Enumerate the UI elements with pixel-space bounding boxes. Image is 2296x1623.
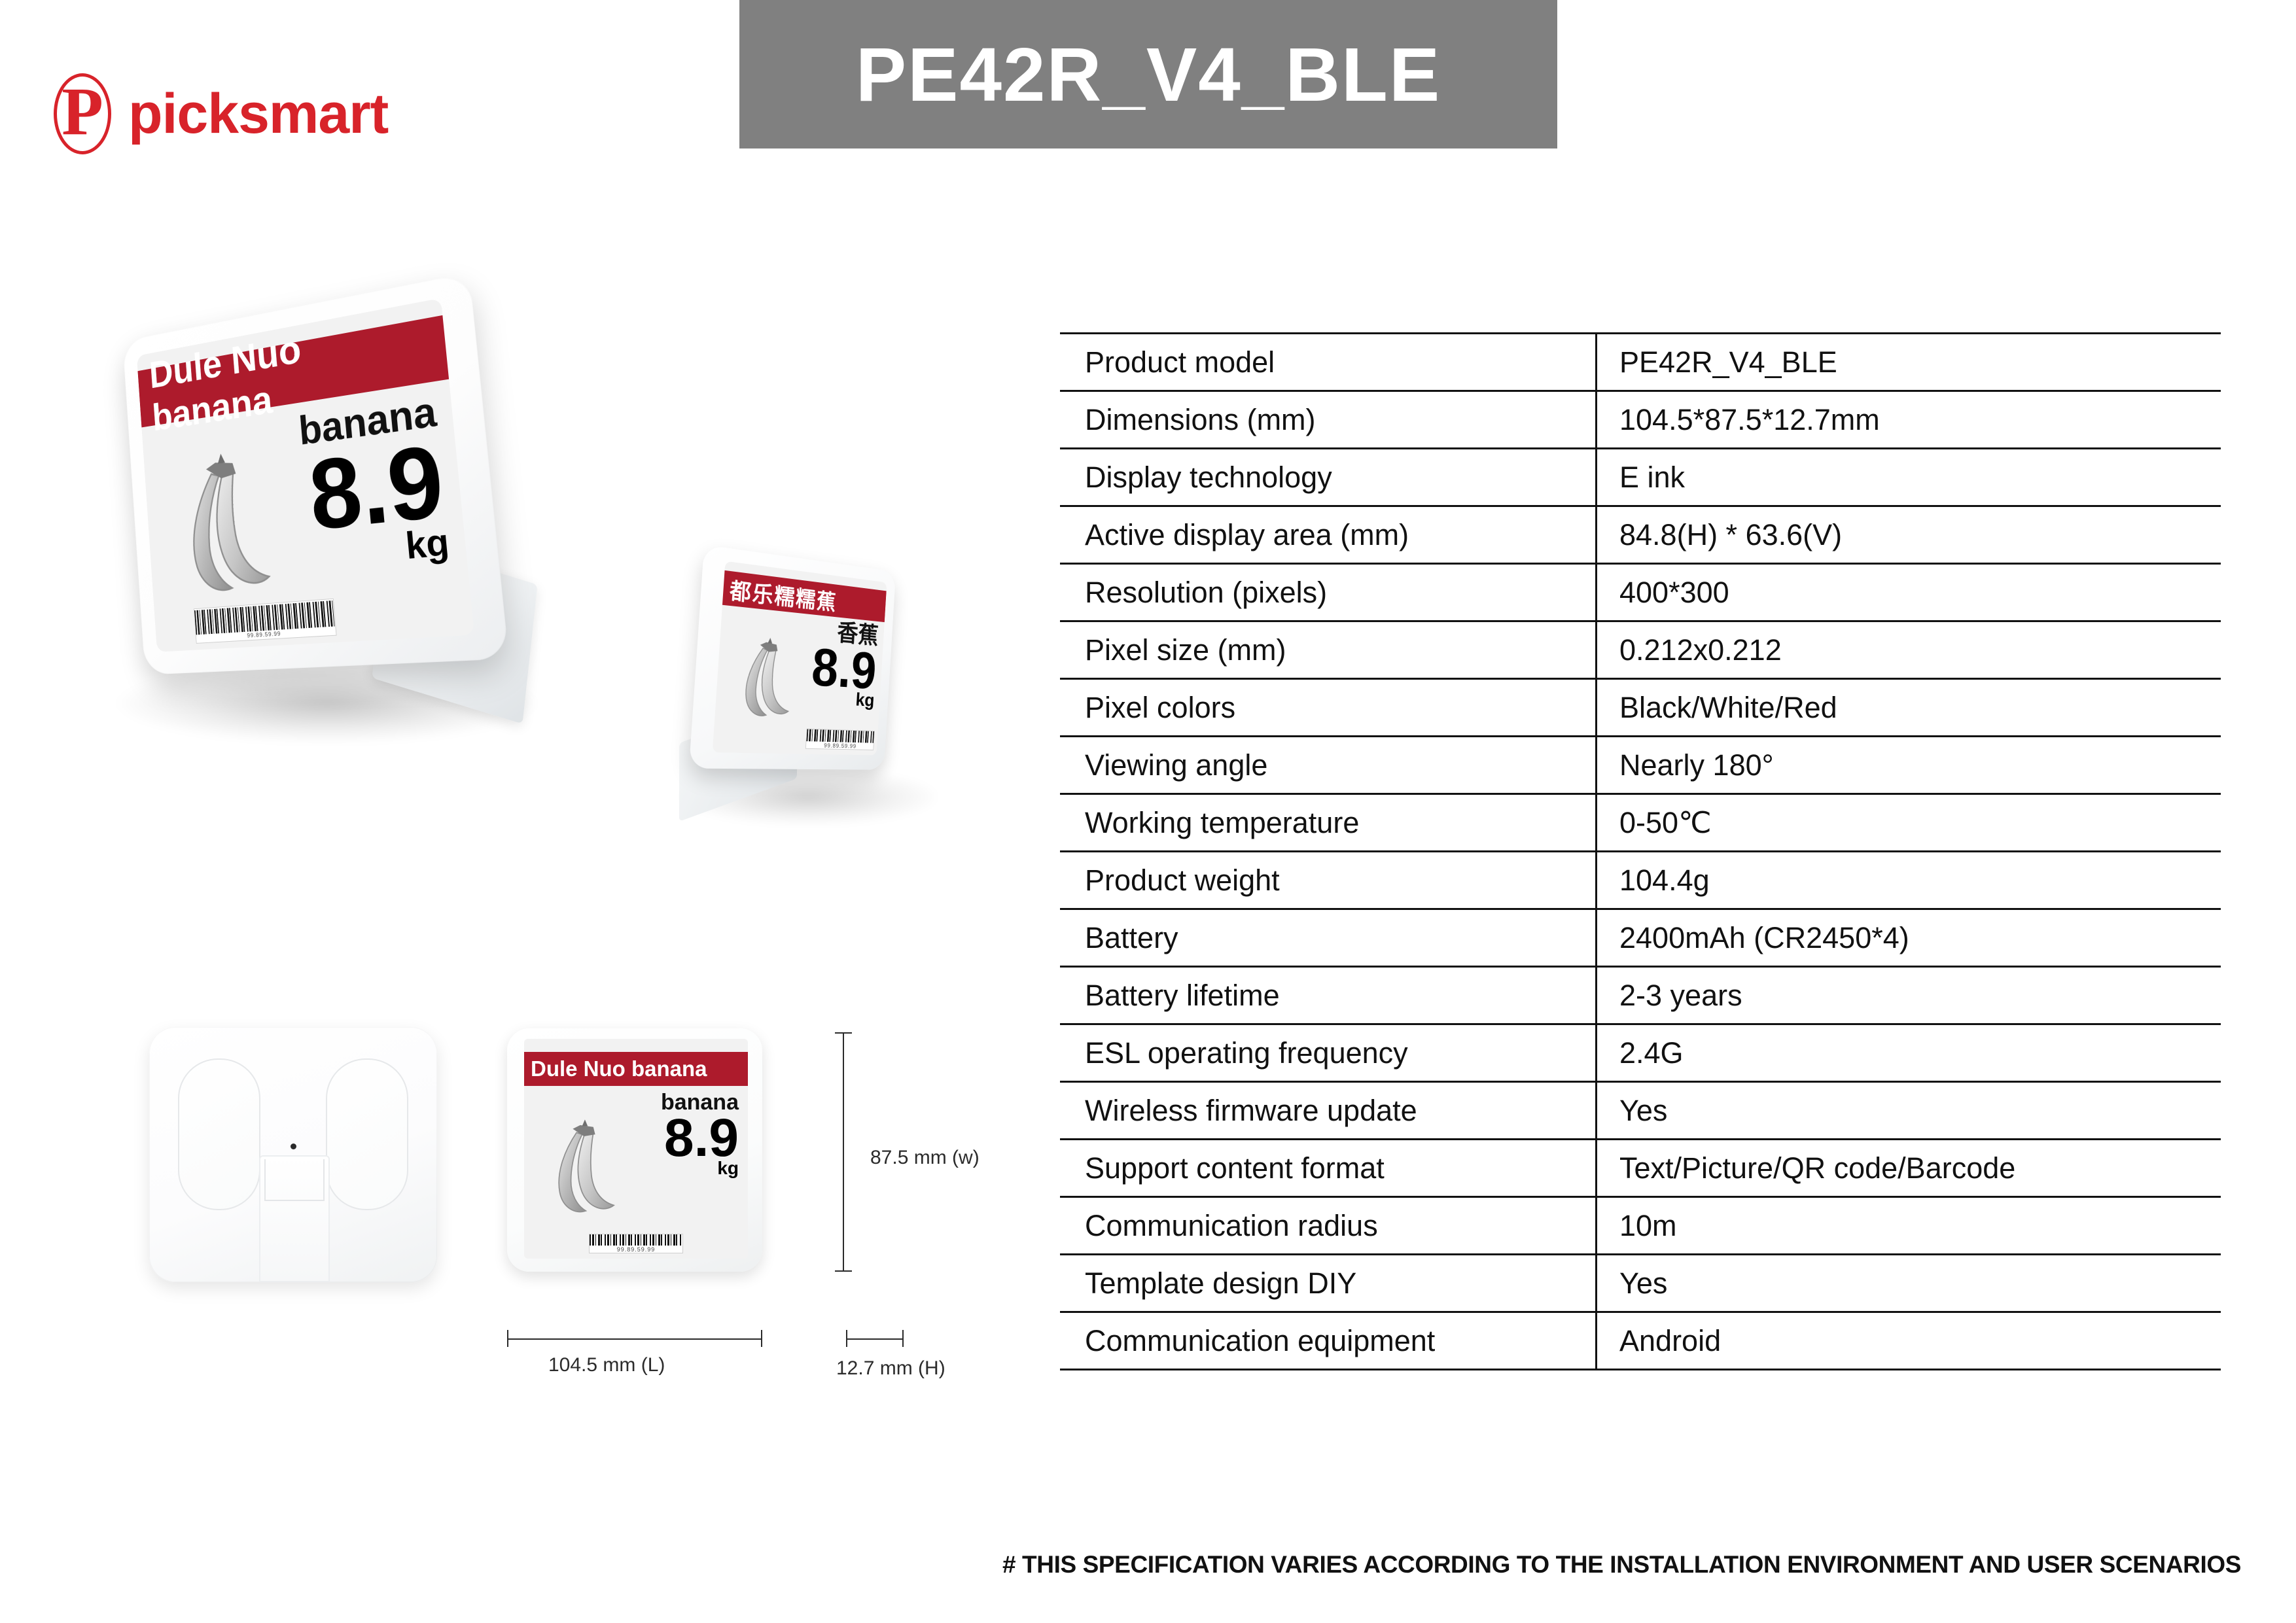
hero-product-photo: Dule Nuo banana xyxy=(98,298,556,769)
footer-disclaimer: # THIS SPECIFICATION VARIES ACCORDING TO… xyxy=(1002,1551,2241,1579)
esl-tag-hero: Dule Nuo banana xyxy=(122,272,509,674)
table-row: Communication radius10m xyxy=(1060,1197,2221,1255)
dim-cap-height-left xyxy=(846,1330,847,1347)
spec-value: Black/White/Red xyxy=(1597,679,2221,737)
table-row: Wireless firmware updateYes xyxy=(1060,1082,2221,1140)
dim-label-length: 104.5 mm (L) xyxy=(548,1354,665,1376)
spec-key: Wireless firmware update xyxy=(1060,1082,1597,1140)
esl-screen-hero: Dule Nuo banana xyxy=(137,298,474,652)
esl-tag-secondary: 都乐糯糯蕉 香蕉 8.9 kg 99.89. xyxy=(689,545,896,770)
device-front-view: Dule Nuo banana banana 8.9 kg 99.89.59.9… xyxy=(507,1028,762,1272)
battery-compartment-right xyxy=(326,1058,408,1210)
table-row: Product modelPE42R_V4_BLE xyxy=(1060,334,2221,391)
barcode-icon: 99.89.59.99 xyxy=(589,1234,683,1253)
dim-label-height: 12.7 mm (H) xyxy=(836,1357,945,1380)
spec-value: 84.8(H) * 63.6(V) xyxy=(1597,506,2221,564)
picksmart-logo-icon: P xyxy=(54,73,111,154)
spec-key: Battery lifetime xyxy=(1060,967,1597,1024)
spec-key: Dimensions (mm) xyxy=(1060,391,1597,449)
spec-value: Nearly 180° xyxy=(1597,737,2221,794)
barcode-digits: 99.89.59.99 xyxy=(617,1247,656,1253)
barcode-bars xyxy=(590,1234,682,1246)
banana-image xyxy=(713,605,815,754)
spec-value: 104.5*87.5*12.7mm xyxy=(1597,391,2221,449)
spec-value: PE42R_V4_BLE xyxy=(1597,334,2221,391)
spec-key: Product weight xyxy=(1060,852,1597,909)
esl-info: banana 8.9 kg xyxy=(640,1086,748,1259)
table-row: Battery2400mAh (CR2450*4) xyxy=(1060,909,2221,967)
spec-value: 2-3 years xyxy=(1597,967,2221,1024)
page-title: PE42R_V4_BLE xyxy=(856,37,1441,113)
esl-unit: kg xyxy=(855,691,875,710)
spec-key: Template design DIY xyxy=(1060,1255,1597,1312)
dim-line-height xyxy=(846,1338,904,1340)
dim-cap-height-right xyxy=(902,1330,904,1347)
dim-cap-width-top xyxy=(835,1032,852,1034)
dim-line-width xyxy=(843,1032,844,1272)
barcode-digits: 99.89.59.99 xyxy=(824,743,857,750)
spec-value: 2400mAh (CR2450*4) xyxy=(1597,909,2221,967)
esl-unit: kg xyxy=(404,523,450,565)
battery-compartment-left xyxy=(178,1058,260,1210)
table-row: Pixel size (mm)0.212x0.212 xyxy=(1060,621,2221,679)
esl-screen-secondary: 都乐糯糯蕉 香蕉 8.9 kg 99.89. xyxy=(713,561,887,756)
spec-value: Android xyxy=(1597,1312,2221,1370)
table-row: Battery lifetime2-3 years xyxy=(1060,967,2221,1024)
dim-cap-width-bottom xyxy=(835,1270,852,1272)
esl-price: 8.9 xyxy=(664,1115,739,1162)
barcode-bars xyxy=(806,729,874,743)
spec-value: 0-50℃ xyxy=(1597,794,2221,852)
spec-key: Resolution (pixels) xyxy=(1060,564,1597,621)
barcode-icon: 99.89.59.99 xyxy=(805,729,875,750)
table-row: ESL operating frequency2.4G xyxy=(1060,1024,2221,1082)
spec-value: Yes xyxy=(1597,1082,2221,1140)
spec-value: 10m xyxy=(1597,1197,2221,1255)
table-row: Communication equipmentAndroid xyxy=(1060,1312,2221,1370)
esl-unit: kg xyxy=(717,1159,739,1178)
table-row: Product weight104.4g xyxy=(1060,852,2221,909)
spec-key: ESL operating frequency xyxy=(1060,1024,1597,1082)
spec-value: 0.212x0.212 xyxy=(1597,621,2221,679)
spec-key: Working temperature xyxy=(1060,794,1597,852)
table-row: Display technologyE ink xyxy=(1060,449,2221,506)
kickstand-tab xyxy=(259,1155,330,1282)
barcode-digits: 99.89.59.99 xyxy=(247,631,281,638)
table-row: Pixel colorsBlack/White/Red xyxy=(1060,679,2221,737)
specification-table: Product modelPE42R_V4_BLEDimensions (mm)… xyxy=(1060,332,2221,1370)
table-row: Working temperature0-50℃ xyxy=(1060,794,2221,852)
dim-cap-length-left xyxy=(507,1330,508,1347)
dim-label-width: 87.5 mm (w) xyxy=(870,1147,980,1169)
spec-value: 104.4g xyxy=(1597,852,2221,909)
secondary-product-photo: 都乐糯糯蕉 香蕉 8.9 kg 99.89. xyxy=(667,553,949,841)
page-title-banner: PE42R_V4_BLE xyxy=(739,0,1557,148)
table-row: Resolution (pixels)400*300 xyxy=(1060,564,2221,621)
device-back-view xyxy=(149,1027,437,1282)
banana-image xyxy=(524,1086,640,1259)
table-row: Template design DIYYes xyxy=(1060,1255,2221,1312)
spec-key: Viewing angle xyxy=(1060,737,1597,794)
spec-key: Communication radius xyxy=(1060,1197,1597,1255)
esl-price: 8.9 xyxy=(811,644,878,694)
spec-value: 400*300 xyxy=(1597,564,2221,621)
spec-key: Battery xyxy=(1060,909,1597,967)
spec-value: Text/Picture/QR code/Barcode xyxy=(1597,1140,2221,1197)
brand-logo: P picksmart xyxy=(54,73,388,154)
esl-screen-flat: Dule Nuo banana banana 8.9 kg 99.89.59.9… xyxy=(524,1039,748,1259)
spec-key: Pixel size (mm) xyxy=(1060,621,1597,679)
spec-key: Product model xyxy=(1060,334,1597,391)
dim-line-length xyxy=(507,1338,762,1340)
spec-key: Active display area (mm) xyxy=(1060,506,1597,564)
spec-key: Support content format xyxy=(1060,1140,1597,1197)
spec-key: Display technology xyxy=(1060,449,1597,506)
table-row: Support content formatText/Picture/QR co… xyxy=(1060,1140,2221,1197)
table-row: Active display area (mm)84.8(H) * 63.6(V… xyxy=(1060,506,2221,564)
specification-table-body: Product modelPE42R_V4_BLEDimensions (mm)… xyxy=(1060,334,2221,1370)
led-indicator-icon xyxy=(291,1143,296,1149)
esl-body: banana 8.9 kg xyxy=(524,1086,748,1259)
spec-key: Communication equipment xyxy=(1060,1312,1597,1370)
spec-value: 2.4G xyxy=(1597,1024,2221,1082)
spec-value: Yes xyxy=(1597,1255,2221,1312)
logo-letter: P xyxy=(54,73,111,154)
esl-banner-text: Dule Nuo banana xyxy=(524,1052,748,1086)
dim-cap-length-right xyxy=(761,1330,762,1347)
table-row: Dimensions (mm)104.5*87.5*12.7mm xyxy=(1060,391,2221,449)
spec-key: Pixel colors xyxy=(1060,679,1597,737)
table-row: Viewing angleNearly 180° xyxy=(1060,737,2221,794)
spec-value: E ink xyxy=(1597,449,2221,506)
brand-wordmark: picksmart xyxy=(128,86,388,142)
